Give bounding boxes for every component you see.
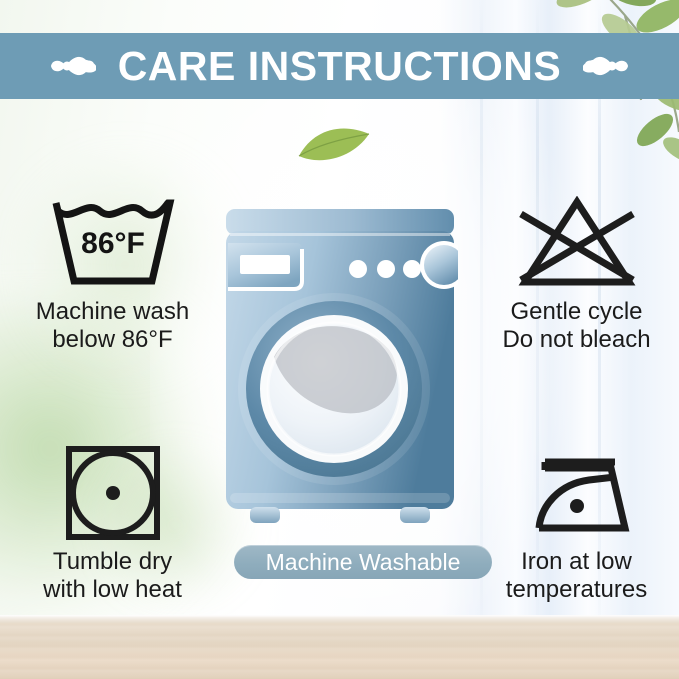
wash-temperature-value: 86°F	[81, 227, 145, 260]
label-line-1: Iron at low	[506, 548, 647, 576]
tumble-dry-icon-wrap	[63, 443, 163, 543]
label-line-2: with low heat	[43, 576, 182, 604]
floating-leaf-decoration	[295, 122, 373, 168]
triangle-crossed-bleach-icon	[515, 196, 639, 290]
label-line-1: Tumble dry	[43, 548, 182, 576]
wooden-table-edge	[0, 615, 679, 623]
washing-machine-illustration	[222, 207, 458, 537]
care-symbol-tumble-dry: Tumble dry with low heat	[10, 443, 215, 604]
care-symbol-label: Machine wash below 86°F	[36, 298, 189, 354]
wash-tub-icon-wrap: 86°F	[48, 193, 178, 293]
care-symbol-label: Iron at low temperatures	[506, 548, 647, 604]
care-symbol-iron: Iron at low temperatures	[474, 443, 679, 604]
header-banner: CARE INSTRUCTIONS	[0, 33, 679, 99]
care-instructions-infographic: CARE INSTRUCTIONS 86°F Machine wash belo…	[0, 0, 679, 679]
wash-tub-icon: 86°F	[48, 195, 178, 291]
iron-low-temp-icon	[515, 450, 639, 536]
care-symbol-label: Gentle cycle Do not bleach	[502, 298, 650, 354]
label-line-2: Do not bleach	[502, 326, 650, 354]
page-title: CARE INSTRUCTIONS	[118, 46, 562, 87]
label-line-1: Gentle cycle	[502, 298, 650, 326]
fleur-de-lis-icon	[50, 46, 96, 86]
care-symbol-do-not-bleach: Gentle cycle Do not bleach	[474, 193, 679, 354]
status-badge: Machine Washable	[234, 545, 492, 579]
status-badge-label: Machine Washable	[266, 551, 461, 574]
wooden-table-grain	[0, 621, 679, 679]
label-line-1: Machine wash	[36, 298, 189, 326]
bleach-icon-wrap	[515, 193, 639, 293]
label-line-2: temperatures	[506, 576, 647, 604]
care-symbol-machine-wash: 86°F Machine wash below 86°F	[10, 193, 215, 354]
iron-icon-wrap	[515, 443, 639, 543]
care-symbol-label: Tumble dry with low heat	[43, 548, 182, 604]
tumble-dry-low-icon	[63, 443, 163, 543]
fleur-de-lis-icon	[583, 46, 629, 86]
label-line-2: below 86°F	[36, 326, 189, 354]
